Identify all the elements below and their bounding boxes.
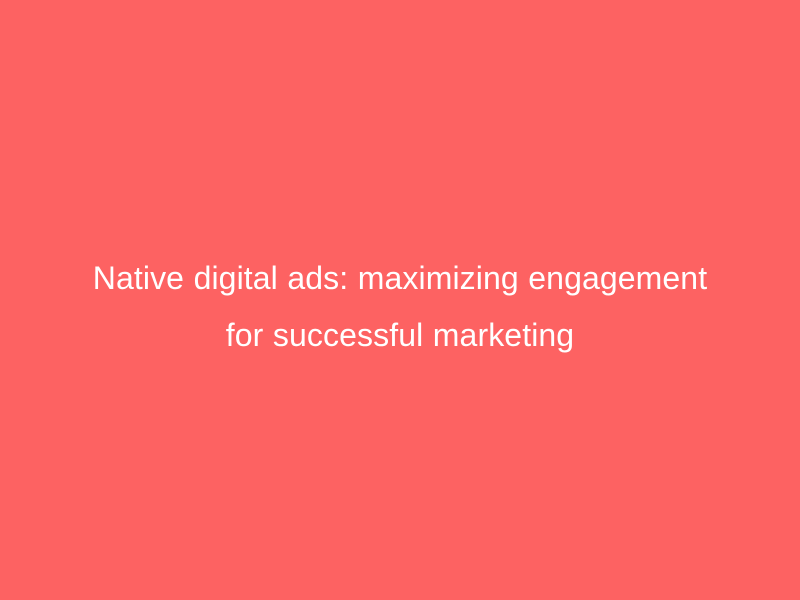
article-title-card: Native digital ads: maximizing engagemen… (0, 0, 800, 600)
page-title: Native digital ads: maximizing engagemen… (40, 250, 760, 364)
page-title-line-1: Native digital ads: maximizing engagemen… (40, 250, 760, 307)
headline-block: Native digital ads: maximizing engagemen… (0, 250, 800, 364)
page-title-line-2: for successful marketing (40, 307, 760, 364)
